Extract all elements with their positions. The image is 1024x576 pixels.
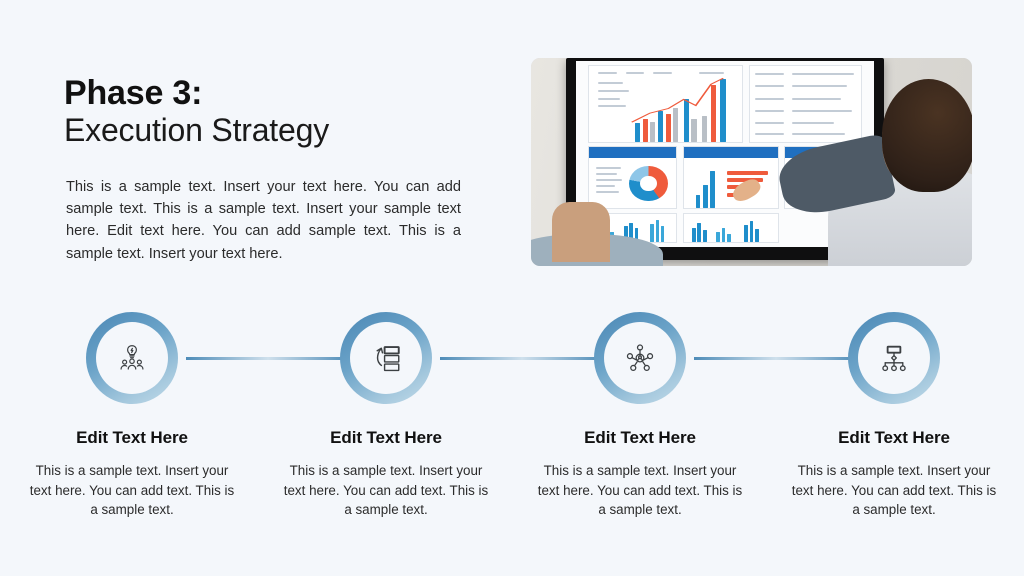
- process-step-4-title: Edit Text Here: [776, 428, 1012, 448]
- connector-line-2: [440, 357, 604, 360]
- process-step-1-caption: Edit Text Here This is a sample text. In…: [14, 428, 250, 520]
- photo-mini-bars-2: [683, 213, 778, 243]
- photo-person-left: [531, 75, 650, 266]
- photo-person-right: [831, 62, 972, 266]
- page-title: Phase 3: Execution Strategy: [64, 74, 494, 150]
- process-step-2-node[interactable]: [340, 312, 432, 404]
- process-step-3-body: This is a sample text. Insert your text …: [522, 461, 758, 520]
- process-step-2-title: Edit Text Here: [268, 428, 504, 448]
- process-step-4-node[interactable]: [848, 312, 940, 404]
- process-step-2-icon-well: [350, 322, 422, 394]
- slide-canvas: Phase 3: Execution Strategy This is a sa…: [0, 0, 1024, 576]
- network-hub-icon: [623, 341, 657, 375]
- process-step-1-node[interactable]: [86, 312, 178, 404]
- process-step-1-body: This is a sample text. Insert your text …: [14, 461, 250, 520]
- connector-line-3: [694, 357, 858, 360]
- photo-content: [531, 58, 972, 266]
- process-step-3-icon-well: [604, 322, 676, 394]
- process-step-4-caption: Edit Text Here This is a sample text. In…: [776, 428, 1012, 520]
- process-step-3-title: Edit Text Here: [522, 428, 758, 448]
- photo-bar-panel: [683, 146, 778, 209]
- org-chart-icon: [877, 341, 911, 375]
- title-line-secondary: Execution Strategy: [64, 112, 494, 150]
- team-idea-icon: [115, 341, 149, 375]
- process-step-3-caption: Edit Text Here This is a sample text. In…: [522, 428, 758, 520]
- connector-line-1: [186, 357, 350, 360]
- task-list-arrow-icon: [369, 341, 403, 375]
- photo-panel-header: [684, 147, 777, 158]
- process-step-2-caption: Edit Text Here This is a sample text. In…: [268, 428, 504, 520]
- process-step-4-icon-well: [858, 322, 930, 394]
- process-step-1-title: Edit Text Here: [14, 428, 250, 448]
- process-step-4-body: This is a sample text. Insert your text …: [776, 461, 1012, 520]
- process-step-2-body: This is a sample text. Insert your text …: [268, 461, 504, 520]
- title-line-primary: Phase 3:: [64, 74, 494, 112]
- intro-paragraph: This is a sample text. Insert your text …: [66, 176, 461, 265]
- process-step-1-icon-well: [96, 322, 168, 394]
- hero-photo: [531, 58, 972, 266]
- process-step-3-node[interactable]: [594, 312, 686, 404]
